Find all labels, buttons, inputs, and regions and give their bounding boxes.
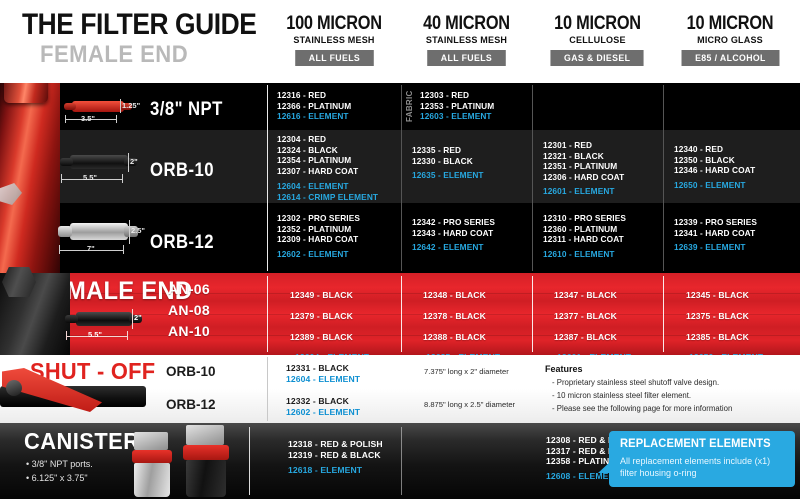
column-fuel-badge: E85 / ALCOHOL: [681, 50, 779, 66]
an-fitting-hex: [2, 267, 36, 297]
female-orb12-col2: 12342 - PRO SERIES 12343 - HARD COAT 126…: [412, 217, 495, 253]
fabric-vertical-label: FABRIC: [405, 90, 414, 122]
part-number: 12318 - RED & POLISH: [288, 439, 383, 450]
part-number: 12389 - BLACK: [290, 327, 369, 348]
part-number-element: 12604 - ELEMENT: [286, 374, 360, 385]
dim-dia-line: [129, 220, 130, 244]
shutoff-orb10-parts: 12331 - BLACK 12604 - ELEMENT: [286, 363, 360, 384]
dim-length-tick-left: [59, 245, 60, 254]
dim-length-label: 3.5": [81, 114, 95, 123]
part-number: 12349 - BLACK: [290, 285, 369, 306]
dim-length-tick-right: [123, 245, 124, 254]
column-divider-3: [532, 276, 533, 352]
part-number: 12346 - HARD COAT: [674, 165, 755, 176]
orb12-filter-thumbnail: 7" 2.5": [56, 213, 151, 259]
column-micron-label: 40 MICRON: [410, 14, 523, 34]
callout-title: REPLACEMENT ELEMENTS: [620, 438, 771, 450]
part-number-element: 12604 - ELEMENT: [277, 181, 378, 192]
dim-length-tick-left: [66, 331, 67, 340]
part-number-element: 12639 - ELEMENT: [674, 242, 757, 253]
female-orb12-col3: 12310 - PRO SERIES 12360 - PLATINUM 1231…: [543, 213, 626, 259]
part-number: 12347 - BLACK: [554, 285, 631, 306]
part-number: 12354 - PLATINUM: [277, 155, 378, 166]
part-number: 12301 - RED: [543, 140, 624, 151]
part-number: 12306 - HARD COAT: [543, 172, 624, 183]
dim-dia-line: [128, 153, 129, 172]
part-number: 12340 - RED: [674, 144, 755, 155]
part-number: 12387 - BLACK: [554, 327, 631, 348]
canister-bullet: • 6.125" x 3.75": [26, 473, 88, 483]
part-number: 12309 - HARD COAT: [277, 234, 360, 245]
part-number-element: 12610 - ELEMENT: [543, 249, 626, 260]
female-row-size-orb12: ORB-12: [150, 232, 214, 254]
column-material-label: STAINLESS MESH: [271, 34, 396, 47]
male-end-fitting-image: [0, 273, 70, 355]
column-material-label: STAINLESS MESH: [404, 34, 528, 47]
female-orb12-col1: 12302 - PRO SERIES 12352 - PLATINUM 1230…: [277, 213, 360, 259]
dim-dia-line: [132, 309, 133, 329]
column-material-label: MICRO GLASS: [666, 34, 793, 47]
part-number: 12351 - PLATINUM: [543, 161, 624, 172]
filter-end-left: [65, 315, 78, 323]
part-number: 12385 - BLACK: [686, 327, 763, 348]
part-number: 12307 - HARD COAT: [277, 166, 378, 177]
part-number: 12375 - BLACK: [686, 306, 763, 327]
column-fuel-badge: ALL FUELS: [295, 50, 374, 66]
part-number-element: 12602 - ELEMENT: [286, 407, 360, 418]
canister-col1: 12318 - RED & POLISH 12319 - RED & BLACK…: [288, 439, 383, 476]
part-number: 12319 - RED & BLACK: [288, 450, 383, 461]
part-number: 12388 - BLACK: [423, 327, 500, 348]
column-divider-1: [267, 357, 268, 421]
column-divider-3: [532, 85, 533, 271]
dim-dia-label: 2": [134, 313, 142, 322]
page-title: THE FILTER GUIDE: [22, 8, 256, 42]
part-number: 12353 - PLATINUM: [420, 101, 494, 112]
canister-bracket: [134, 432, 168, 450]
column-header-10-micron-microglass: 10 MICRON MICRO GLASS E85 / ALCOHOL: [663, 14, 797, 66]
filter-body-red: [72, 101, 124, 112]
female-orb10-col1: 12304 - RED 12324 - BLACK 12354 - PLATIN…: [277, 134, 378, 202]
column-divider-2: [401, 427, 402, 495]
shutoff-orb12-dimensions: 8.875" long x 2.5" diameter: [424, 400, 515, 409]
column-divider-2: [401, 85, 402, 271]
part-number: 12345 - BLACK: [686, 285, 763, 306]
shutoff-size-orb12: ORB-12: [166, 397, 216, 412]
canister-red-band: [132, 450, 172, 463]
filter-end-left: [64, 103, 76, 110]
dim-length-label: 7": [87, 244, 95, 253]
part-number-element: 12642 - ELEMENT: [412, 242, 495, 253]
canister-black-image: [178, 425, 234, 495]
part-number: 12311 - HARD COAT: [543, 234, 626, 245]
column-micron-label: 10 MICRON: [541, 14, 654, 34]
column-divider-4: [663, 276, 664, 352]
replacement-elements-callout: REPLACEMENT ELEMENTS All replacement ele…: [609, 431, 795, 487]
part-number: 12343 - HARD COAT: [412, 228, 495, 239]
part-number: 12316 - RED: [277, 90, 351, 101]
part-number-element: 12650 - ELEMENT: [674, 180, 755, 191]
features-title: Features: [545, 364, 583, 374]
tube-cap: [4, 83, 48, 103]
column-divider-2: [401, 276, 402, 352]
filter-body-black: [70, 155, 128, 169]
part-number-element: 12603 - ELEMENT: [420, 111, 494, 122]
part-number: 12331 - BLACK: [286, 363, 360, 374]
part-number: 12341 - HARD COAT: [674, 228, 757, 239]
filter-body-black: [76, 312, 132, 326]
column-material-label: CELLULOSE: [535, 34, 659, 47]
dim-length-tick-left: [65, 115, 66, 123]
column-fuel-badge: GAS & DIESEL: [551, 50, 644, 66]
part-number: 12378 - BLACK: [423, 306, 500, 327]
page-header: THE FILTER GUIDE FEMALE END 100 MICRON S…: [0, 0, 800, 83]
tube-logo-tab: [0, 183, 22, 205]
part-number-element: 12614 - CRIMP ELEMENT: [277, 192, 378, 203]
female-end-subtitle: FEMALE END: [40, 41, 188, 69]
npt-filter-thumbnail: 3.5" 1.25": [62, 95, 142, 125]
column-header-100-micron: 100 MICRON STAINLESS MESH ALL FUELS: [268, 14, 400, 66]
column-divider-1: [267, 85, 268, 271]
shutoff-orb10-dimensions: 7.375" long x 2" diameter: [424, 367, 509, 376]
column-divider-1: [249, 427, 250, 495]
part-number: 12360 - PLATINUM: [543, 224, 626, 235]
female-orb10-col2: 12335 - RED 12330 - BLACK 12635 - ELEMEN…: [412, 145, 484, 181]
part-number-element: 12602 - ELEMENT: [277, 249, 360, 260]
filter-end-left: [60, 158, 73, 166]
female-row-size-orb10: ORB-10: [150, 160, 214, 182]
canister-body-polish: [134, 463, 170, 497]
part-number: 12377 - BLACK: [554, 306, 631, 327]
feature-item: - Proprietary stainless steel shutoff va…: [552, 378, 719, 387]
part-number: 12302 - PRO SERIES: [277, 213, 360, 224]
column-micron-label: 10 MICRON: [672, 14, 787, 34]
female-orb10-col3: 12301 - RED 12321 - BLACK 12351 - PLATIN…: [543, 140, 624, 197]
canister-bracket: [186, 425, 224, 445]
part-number-element: 12616 - ELEMENT: [277, 111, 351, 122]
column-header-10-micron-cellulose: 10 MICRON CELLULOSE GAS & DIESEL: [532, 14, 663, 66]
part-number: 12332 - BLACK: [286, 396, 360, 407]
column-header-40-micron: 40 MICRON STAINLESS MESH ALL FUELS: [401, 14, 532, 66]
dim-length-tick-left: [61, 174, 62, 183]
part-number: 12310 - PRO SERIES: [543, 213, 626, 224]
filter-guide-page: THE FILTER GUIDE FEMALE END 100 MICRON S…: [0, 0, 800, 499]
canister-red-band: [183, 445, 229, 460]
part-number: 12379 - BLACK: [290, 306, 369, 327]
male-filter-thumbnail: 5.5" 2": [62, 303, 157, 345]
shutoff-valve-image: [0, 368, 150, 414]
part-number: 12339 - PRO SERIES: [674, 217, 757, 228]
valve-pivot: [6, 380, 22, 396]
part-number: 12324 - BLACK: [277, 145, 378, 156]
female-orb10-col4: 12340 - RED 12350 - BLACK 12346 - HARD C…: [674, 144, 755, 190]
part-number: 12352 - PLATINUM: [277, 224, 360, 235]
dim-length-label: 5.5": [88, 330, 102, 339]
dim-dia-label: 2.5": [131, 226, 145, 235]
part-number-element: 12635 - ELEMENT: [412, 170, 484, 181]
canister-body-black: [186, 460, 226, 497]
part-number: 12342 - PRO SERIES: [412, 217, 495, 228]
shutoff-orb12-parts: 12332 - BLACK 12602 - ELEMENT: [286, 396, 360, 417]
female-orb12-col4: 12339 - PRO SERIES 12341 - HARD COAT 126…: [674, 217, 757, 253]
dim-dia-line: [120, 99, 121, 113]
female-npt-col2: 12303 - RED 12353 - PLATINUM 12603 - ELE…: [420, 90, 494, 122]
part-number: 12321 - BLACK: [543, 151, 624, 162]
orb10-filter-thumbnail: 5.5" 2": [58, 145, 148, 187]
canister-polish-image: [128, 432, 178, 494]
part-number: 12366 - PLATINUM: [277, 101, 351, 112]
part-number-element: 12601 - ELEMENT: [543, 186, 624, 197]
part-number: 12303 - RED: [420, 90, 494, 101]
male-size-an10: AN-10: [168, 323, 210, 339]
female-row-size-npt: 3/8" NPT: [150, 99, 223, 121]
callout-body: All replacement elements include (x1) fi…: [620, 455, 788, 479]
dim-length-tick-right: [122, 174, 123, 183]
column-micron-label: 100 MICRON: [277, 14, 391, 34]
dim-dia-label: 1.25": [122, 101, 140, 110]
filter-end-left: [58, 226, 72, 237]
red-filter-tube-image: [0, 83, 60, 273]
male-size-an06: AN-06: [168, 281, 210, 297]
column-divider-4: [663, 85, 664, 271]
dim-length-tick-right: [116, 115, 117, 123]
shutoff-size-orb10: ORB-10: [166, 364, 216, 379]
feature-item: - 10 micron stainless steel filter eleme…: [552, 391, 691, 400]
column-fuel-badge: ALL FUELS: [427, 50, 506, 66]
male-size-an08: AN-08: [168, 302, 210, 318]
part-number: 12350 - BLACK: [674, 155, 755, 166]
feature-item: - Please see the following page for more…: [552, 404, 732, 413]
canister-title: CANISTER: [24, 428, 139, 455]
part-number: 12330 - BLACK: [412, 156, 484, 167]
dim-dia-label: 2": [130, 157, 138, 166]
column-divider-1: [267, 276, 268, 352]
dim-length-label: 5.5": [83, 173, 97, 182]
part-number: 12335 - RED: [412, 145, 484, 156]
part-number-element: 12618 - ELEMENT: [288, 465, 383, 476]
dim-length-tick-right: [127, 331, 128, 340]
part-number: 12348 - BLACK: [423, 285, 500, 306]
female-npt-col1: 12316 - RED 12366 - PLATINUM 12616 - ELE…: [277, 90, 351, 122]
part-number: 12304 - RED: [277, 134, 378, 145]
filter-body-platinum: [70, 223, 128, 240]
canister-bullet: • 3/8" NPT ports.: [26, 459, 93, 469]
